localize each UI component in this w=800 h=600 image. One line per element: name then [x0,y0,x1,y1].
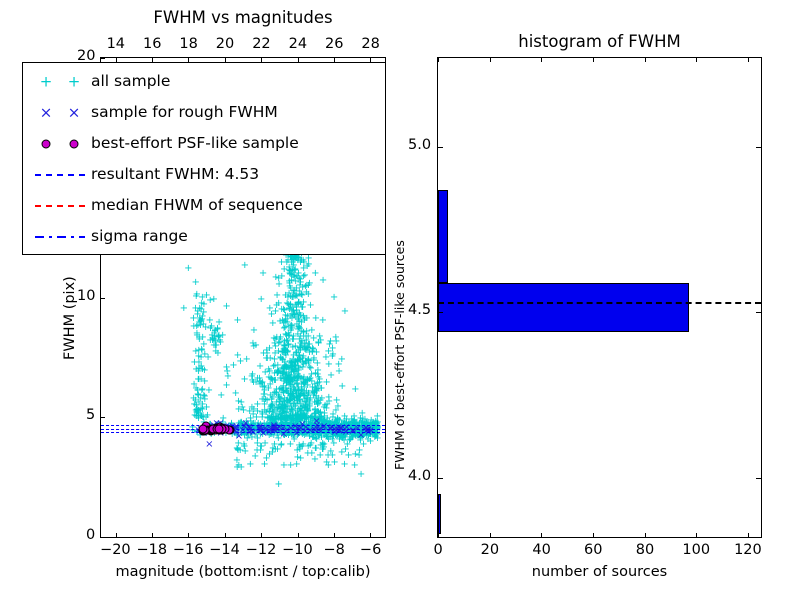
scatter-point-rough-fwhm: × [364,426,372,436]
left-xticklabel-top: 26 [325,36,343,52]
scatter-point-all-sample: + [256,446,264,456]
scatter-point-all-sample: + [344,451,352,461]
right-yticklabel: 4.0 [408,468,431,484]
right-xtick [490,533,491,537]
scatter-point-all-sample: + [222,302,230,312]
scatter-point-all-sample: + [277,441,285,451]
scatter-point-all-sample: + [259,269,267,279]
scatter-point-all-sample: + [319,445,327,455]
scatter-point-all-sample: + [295,309,303,319]
scatter-point-all-sample: + [294,254,302,264]
left-xticklabel-bottom: −16 [173,542,204,558]
right-xtick [438,533,439,537]
scatter-point-rough-fwhm: × [283,426,291,436]
left-plot-title: FWHM vs magnitudes [100,8,386,27]
scatter-point-all-sample: + [184,264,192,274]
scatter-point-all-sample: + [338,355,346,365]
left-xticklabel-bottom: −12 [246,542,277,558]
right-xtick-top [490,58,491,62]
left-xtick-bottom [261,533,262,537]
scatter-point-all-sample: + [270,334,278,344]
left-xticklabel-top: 16 [143,36,161,52]
scatter-point-all-sample: + [304,449,312,459]
scatter-point-all-sample: + [313,359,321,369]
legend-entry[interactable]: ××sample for rough FWHM [29,97,379,128]
scatter-point-all-sample: + [253,374,261,384]
right-xtick-top [696,58,697,62]
legend-marker-dashed-line-icon [29,190,91,221]
scatter-point-all-sample: + [237,398,245,408]
legend-marker-plus-icon: ++ [29,66,91,97]
scatter-point-all-sample: + [317,336,325,346]
left-xtick-bottom [334,533,335,537]
right-xticklabel: 40 [532,542,550,558]
left-xtick-bottom [298,533,299,537]
histogram-bar [438,283,689,333]
scatter-point-all-sample: + [274,480,282,490]
scatter-point-all-sample: + [265,450,273,460]
right-ytick-mirror [756,478,761,479]
scatter-point-all-sample: + [322,353,330,363]
right-plot-title: histogram of FWHM [437,32,762,51]
scatter-point-all-sample: + [304,356,312,366]
scatter-point-all-sample: + [350,412,358,422]
right-xticklabel: 20 [481,542,499,558]
scatter-point-all-sample: + [237,463,245,473]
scatter-point-all-sample: + [240,442,248,452]
scatter-point-all-sample: + [319,276,327,286]
legend-entry[interactable]: sigma range [29,221,379,252]
matplotlib-figure: FWHM vs magnitudes magnitude (bottom:isn… [0,0,800,600]
legend-glyph: × [68,105,81,120]
legend-entry[interactable]: resultant FWHM: 4.53 [29,159,379,190]
scatter-point-all-sample: + [296,344,304,354]
scatter-point-all-sample: + [355,446,363,456]
right-xtick-top [748,58,749,62]
scatter-point-all-sample: + [210,295,218,305]
left-xticklabel-top: 20 [216,36,234,52]
right-xticklabel: 60 [584,542,602,558]
scatter-point-rough-fwhm: × [205,440,213,450]
left-yticklabel: 10 [77,288,95,304]
legend-label: all sample [91,74,170,90]
right-xtick-top [541,58,542,62]
legend-entry[interactable]: ++all sample [29,66,379,97]
left-xticklabel-bottom: −14 [209,542,240,558]
scatter-point-all-sample: + [241,261,249,271]
scatter-point-all-sample: + [200,366,208,376]
scatter-point-all-sample: + [306,301,314,311]
scatter-point-all-sample: + [252,341,260,351]
scatter-point-all-sample: + [180,304,188,314]
legend-dot [70,139,79,148]
right-xtick [645,533,646,537]
left-xticklabel-bottom: −20 [100,542,131,558]
legend-marker-dashdot-line-icon [29,221,91,252]
right-xtick-top [438,58,439,62]
right-xtick [696,533,697,537]
left-xticklabel-top: 14 [107,36,125,52]
right-xticklabel: 0 [434,542,443,558]
scatter-point-all-sample: + [272,389,280,399]
legend-label: resultant FWHM: 4.53 [91,167,259,183]
scatter-point-all-sample: + [341,307,349,317]
scatter-point-all-sample: + [330,458,338,468]
left-xticklabel-bottom: −8 [324,542,345,558]
scatter-point-all-sample: + [217,391,225,401]
left-plot-xlabel: magnitude (bottom:isnt / top:calib) [60,564,426,580]
scatter-point-all-sample: + [299,272,307,282]
scatter-point-all-sample: + [284,347,292,357]
legend-label: sample for rough FWHM [91,105,278,121]
legend-entry[interactable]: median FHWM of sequence [29,190,379,221]
scatter-point-rough-fwhm: × [240,422,248,432]
scatter-point-all-sample: + [293,320,301,330]
right-ytick-mirror [756,312,761,313]
scatter-point-all-sample: + [192,292,200,302]
right-plot-ylabel: FWHM of best-effort PSF-like sources [392,240,407,470]
sigma-upper-line [101,425,385,426]
scatter-point-all-sample: + [297,386,305,396]
scatter-point-all-sample: + [283,258,291,268]
plot-legend: ++all sample××sample for rough FWHMbest-… [22,62,386,255]
scatter-point-all-sample: + [197,353,205,363]
scatter-point-all-sample: + [304,254,312,264]
right-plot-xlabel: number of sources [437,564,762,580]
legend-glyph: + [40,74,53,89]
legend-label: median FHWM of sequence [91,198,303,214]
scatter-point-all-sample: + [274,367,282,377]
histogram-reference-line [438,302,761,304]
legend-dot [42,139,51,148]
histogram-bar [438,494,441,534]
right-xtick-top [645,58,646,62]
right-xticklabel: 120 [734,542,762,558]
scatter-point-all-sample: + [190,400,198,410]
histogram-bar [438,190,448,282]
left-xtick-bottom [370,533,371,537]
left-ytick [101,298,105,299]
legend-line [35,174,85,176]
legend-glyph: × [40,105,53,120]
sigma-lower-line [101,432,385,433]
scatter-point-all-sample: + [250,326,258,336]
scatter-point-all-sample: + [312,314,320,324]
scatter-point-all-sample: + [257,295,265,305]
left-xtick-bottom [188,533,189,537]
left-xticklabel-bottom: −10 [282,542,313,558]
scatter-point-psf-sample [199,424,208,433]
scatter-point-all-sample: + [293,453,301,463]
scatter-point-all-sample: + [351,385,359,395]
left-ytick [101,537,105,538]
scatter-point-rough-fwhm: × [306,426,314,436]
scatter-point-rough-fwhm: × [315,426,323,436]
scatter-point-all-sample: + [332,333,340,343]
resultant-fwhm-line [101,429,385,430]
right-ytick [438,312,443,313]
left-xticklabel-top: 24 [289,36,307,52]
scatter-point-all-sample: + [269,319,277,329]
scatter-point-all-sample: + [207,322,215,332]
scatter-point-all-sample: + [271,307,279,317]
scatter-point-all-sample: + [333,396,341,406]
scatter-point-all-sample: + [214,349,222,359]
scatter-point-all-sample: + [290,286,298,296]
left-ytick [101,417,105,418]
scatter-point-all-sample: + [265,407,273,417]
legend-marker-filled-circle-icon [29,128,91,159]
right-xtick [593,533,594,537]
left-xtick-bottom [152,533,153,537]
legend-line [35,205,85,207]
scatter-point-all-sample: + [323,458,331,468]
scatter-point-all-sample: + [233,316,241,326]
legend-glyph: + [68,74,81,89]
scatter-point-all-sample: + [330,439,338,449]
right-xtick [748,533,749,537]
scatter-point-all-sample: + [288,376,296,386]
left-xticklabel-top: 22 [252,36,270,52]
left-xticklabel-bottom: −18 [136,542,167,558]
right-xticklabel: 100 [682,542,710,558]
scatter-point-all-sample: + [233,351,241,361]
scatter-point-all-sample: + [314,394,322,404]
scatter-point-all-sample: + [242,355,250,365]
left-xticklabel-bottom: −6 [360,542,381,558]
right-xticklabel: 80 [636,542,654,558]
right-ytick [438,147,443,148]
scatter-point-all-sample: + [350,461,358,471]
left-yticklabel: 0 [86,527,95,543]
scatter-point-all-sample: + [340,460,348,470]
scatter-point-all-sample: + [263,346,271,356]
scatter-point-all-sample: + [246,460,254,470]
legend-marker-cross-icon: ×× [29,97,91,128]
right-yticklabel: 4.5 [408,302,431,318]
scatter-point-all-sample: + [272,273,280,283]
scatter-point-all-sample: + [191,278,199,288]
legend-label: sigma range [91,229,188,245]
scatter-point-all-sample: + [338,382,346,392]
left-xtick-bottom [116,533,117,537]
right-xtick-top [593,58,594,62]
right-yticklabel: 5.0 [408,137,431,153]
legend-entry[interactable]: best-effort PSF-like sample [29,128,379,159]
left-plot-ylabel: FWHM (pix) [62,276,78,360]
scatter-point-all-sample: + [264,384,272,394]
legend-marker-dashed-line-icon [29,159,91,190]
scatter-point-all-sample: + [330,293,338,303]
right-ytick-mirror [756,147,761,148]
scatter-point-all-sample: + [192,365,200,375]
scatter-point-all-sample: + [357,470,365,480]
scatter-point-all-sample: + [256,362,264,372]
scatter-point-all-sample: + [214,332,222,342]
legend-label: best-effort PSF-like sample [91,136,299,152]
scatter-point-all-sample: + [282,336,290,346]
left-ytick [101,58,105,59]
scatter-point-psf-sample [214,424,223,433]
scatter-point-rough-fwhm: × [333,425,341,435]
scatter-point-all-sample: + [193,331,201,341]
left-xticklabel-top: 28 [361,36,379,52]
left-yticklabel: 5 [86,407,95,423]
scatter-point-all-sample: + [222,363,230,373]
scatter-point-all-sample: + [261,395,269,405]
legend-line [35,236,85,238]
right-ytick [438,478,443,479]
scatter-point-all-sample: + [283,405,291,415]
left-xtick-bottom [225,533,226,537]
left-xticklabel-top: 18 [179,36,197,52]
scatter-point-all-sample: + [288,390,296,400]
right-plot-data-area [438,58,761,537]
scatter-point-all-sample: + [290,273,298,283]
right-xtick [541,533,542,537]
